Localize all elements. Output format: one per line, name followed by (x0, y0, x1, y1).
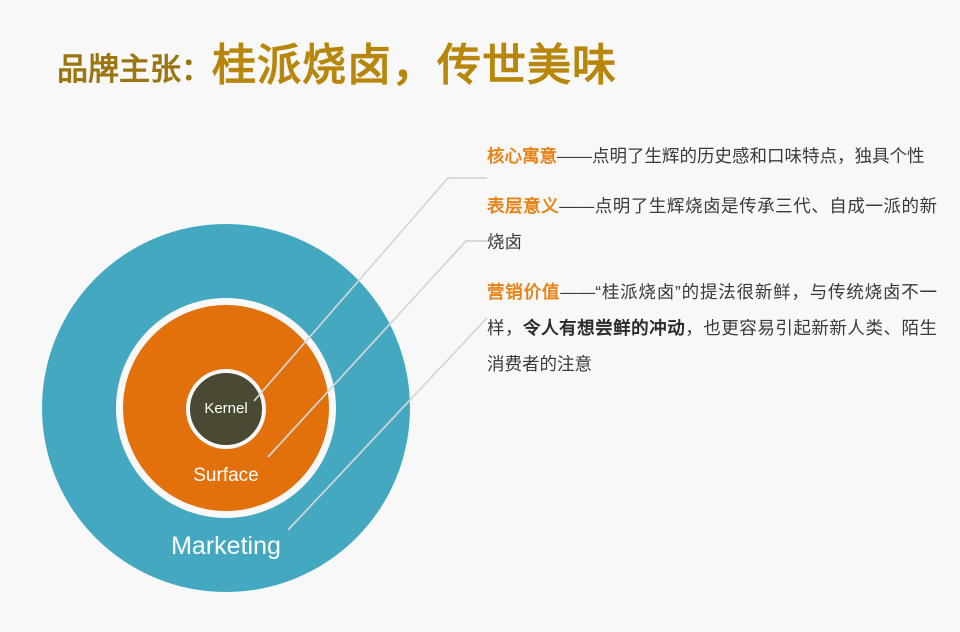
title-lead-text: 品牌主张 (57, 52, 181, 87)
paragraph-head-surface: 表层意义 (487, 196, 559, 216)
paragraph-marketing-value: 营销价值——“桂派烧卤”的提法很新鲜，与传统烧卤不一样，令人有想尝鲜的冲动，也更… (487, 274, 937, 382)
paragraph-kernel-meaning: 核心寓意——点明了生辉的历史感和口味特点，独具个性 (487, 138, 937, 174)
title-main-text: 桂派烧卤，传世美味 (212, 41, 617, 90)
concentric-circles-diagram: Marketing Surface Kernel (40, 222, 412, 594)
paragraph-surface-meaning: 表层意义——点明了生辉烧卤是传承三代、自成一派的新烧卤 (487, 188, 937, 260)
ring-kernel[interactable] (186, 369, 266, 449)
paragraph-body-kernel: ——点明了生辉的历史感和口味特点，独具个性 (557, 146, 925, 166)
paragraph-emphasis-marketing: 令人有想尝鲜的冲动 (523, 318, 685, 338)
paragraph-head-marketing: 营销价值 (487, 282, 560, 302)
page-title: 品牌主张：桂派烧卤，传世美味 (57, 44, 617, 88)
paragraph-head-kernel: 核心寓意 (487, 146, 557, 166)
explanation-text-column: 核心寓意——点明了生辉的历史感和口味特点，独具个性 表层意义——点明了生辉烧卤是… (487, 138, 937, 382)
title-colon: ： (181, 52, 212, 87)
slide-canvas: 品牌主张：桂派烧卤，传世美味 Marketing Surface Kernel … (0, 0, 960, 632)
